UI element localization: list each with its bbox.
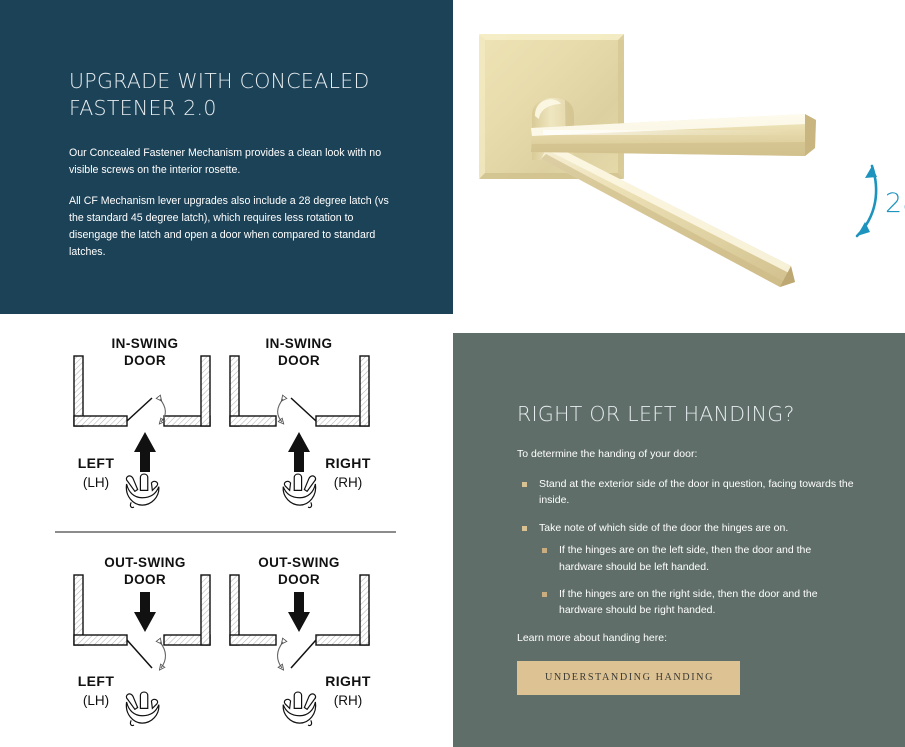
handing-substep-left-text: If the hinges are on the left side, then… (559, 544, 811, 572)
understanding-handing-button[interactable]: UNDERSTANDING HANDING (517, 661, 740, 695)
outswing-right-direction-arrow (288, 592, 310, 632)
handing-substep-right: If the hinges are on the right side, the… (539, 586, 857, 619)
handing-step-2: Take note of which side of the door the … (517, 520, 857, 618)
inswing-left-group: IN-SWING DOOR LEFT (LH) (74, 336, 210, 508)
angle-annotation: 28° (857, 166, 905, 236)
handing-step-2-text: Take note of which side of the door the … (539, 522, 788, 534)
handing-step-1-text: Stand at the exterior side of the door i… (539, 478, 854, 506)
inswing-right-label-line1: IN-SWING (266, 336, 333, 351)
outswing-left-label-line2: DOOR (124, 572, 166, 587)
inswing-left-direction-arrow (134, 432, 156, 472)
right-hand-icon-outswing (283, 692, 316, 725)
right-hand-icon (283, 474, 316, 507)
inswing-right-group: IN-SWING DOOR RIGHT (RH) (230, 336, 371, 508)
concealed-fastener-paragraph-2: All CF Mechanism lever upgrades also inc… (69, 193, 389, 262)
door-lever-photo: 28° (453, 0, 905, 320)
concealed-fastener-paragraph-1: Our Concealed Fastener Mechanism provide… (69, 145, 389, 179)
outswing-right-label-line2: DOOR (278, 572, 320, 587)
door-handing-diagram: IN-SWING DOOR LEFT (LH) (0, 320, 453, 747)
outswing-left-group: OUT-SWING DOOR LEFT (LH) (74, 555, 210, 726)
right-or-left-handing-panel: RIGHT OR LEFT HANDING? To determine the … (453, 333, 905, 747)
inswing-left-abbr: (LH) (83, 475, 109, 490)
outswing-right-group: OUT-SWING DOOR RIGHT (RH) (230, 555, 371, 726)
outswing-right-label-line1: OUT-SWING (258, 555, 340, 570)
handing-panel-intro: To determine the handing of your door: (517, 446, 857, 462)
left-hand-icon-outswing (126, 692, 159, 725)
concealed-fastener-heading: UPGRADE WITH CONCEALED FASTENER 2.0 (69, 68, 389, 123)
outswing-right-hand: RIGHT (325, 673, 371, 689)
inswing-right-abbr: (RH) (334, 475, 363, 490)
inswing-right-direction-arrow (288, 432, 310, 472)
handing-diagram-illustration: IN-SWING DOOR LEFT (LH) (0, 320, 453, 747)
handing-steps-list: Stand at the exterior side of the door i… (517, 476, 857, 619)
angle-label: 28° (885, 188, 905, 219)
outswing-left-abbr: (LH) (83, 693, 109, 708)
left-hand-icon (126, 474, 159, 507)
handing-substep-right-text: If the hinges are on the right side, the… (559, 588, 818, 616)
handing-step-1: Stand at the exterior side of the door i… (517, 476, 857, 509)
handing-substep-left: If the hinges are on the left side, then… (539, 542, 857, 575)
handing-learn-more-text: Learn more about handing here: (517, 630, 857, 646)
inswing-right-label-line2: DOOR (278, 353, 320, 368)
handing-step-2-sublist: If the hinges are on the left side, then… (539, 542, 857, 618)
lever-rotated (541, 143, 795, 287)
concealed-fastener-panel: UPGRADE WITH CONCEALED FASTENER 2.0 Our … (0, 0, 453, 314)
outswing-right-abbr: (RH) (334, 693, 363, 708)
inswing-left-label-line2: DOOR (124, 353, 166, 368)
door-lever-illustration: 28° (453, 0, 905, 320)
inswing-left-hand: LEFT (78, 455, 115, 471)
outswing-left-direction-arrow (134, 592, 156, 632)
outswing-left-hand: LEFT (78, 673, 115, 689)
inswing-left-label-line1: IN-SWING (112, 336, 179, 351)
handing-panel-heading: RIGHT OR LEFT HANDING? (517, 401, 857, 428)
outswing-left-label-line1: OUT-SWING (104, 555, 186, 570)
inswing-right-hand: RIGHT (325, 455, 371, 471)
